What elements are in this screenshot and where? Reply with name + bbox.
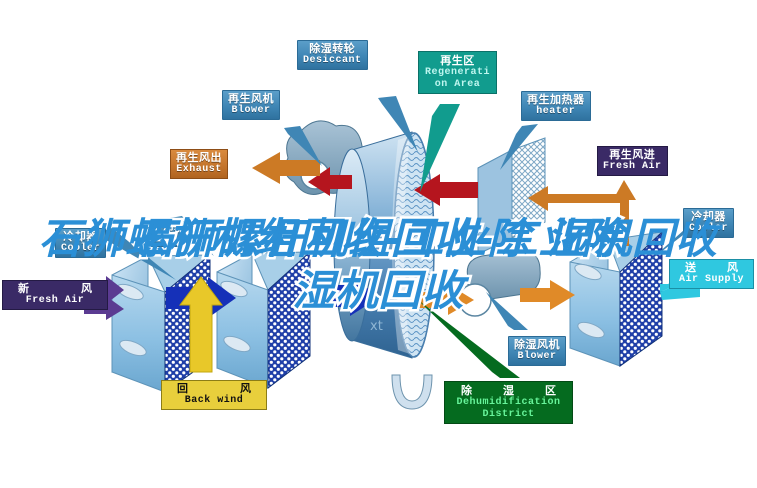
small-watermark: xt (370, 319, 383, 334)
label-regeneration-heater: 再生加热器 heater (521, 91, 591, 121)
dehumidifier-diagram: xt (0, 0, 757, 488)
label-back-wind: 回 风 Back wind (161, 380, 267, 410)
label-regeneration-heater-en: heater (527, 106, 585, 117)
label-regeneration-heater-cn: 再生加热器 (527, 94, 585, 106)
watermark-title-line1: 石狮螺杆机组回收-工业除 (0, 213, 757, 265)
label-back-wind-cn: 回 风 (167, 383, 261, 395)
watermark-title: 石狮螺杆机组回收-工业除 湿机回收 (0, 213, 757, 317)
label-dehumidification-blower: 除湿风机 Blower (508, 336, 566, 366)
label-dehumidification-blower-cn: 除湿风机 (514, 339, 560, 351)
label-back-wind-en: Back wind (167, 395, 261, 406)
label-regeneration-blower-en: Blower (228, 105, 274, 116)
label-regeneration-area: 再生区 Regenerati on Area (418, 51, 497, 94)
label-regeneration-blower: 再生风机 Blower (222, 90, 280, 120)
wheel-base (392, 375, 432, 409)
label-exhaust-en: Exhaust (176, 164, 222, 175)
label-exhaust-cn: 再生风出 (176, 152, 222, 164)
label-dehumidification-area-en: Dehumidification (451, 397, 566, 408)
label-regeneration-area-cn: 再生区 (425, 55, 490, 67)
label-desiccant-wheel: 除湿转轮 Desiccant (297, 40, 368, 70)
label-desiccant-wheel-cn: 除湿转轮 (303, 43, 362, 55)
label-regeneration-fresh-air-en: Fresh Air (603, 161, 662, 172)
label-regeneration-area-en: Regenerati (425, 67, 490, 78)
label-regeneration-fresh-air-cn: 再生风进 (603, 149, 662, 161)
label-regeneration-fresh-air: 再生风进 Fresh Air (597, 146, 668, 176)
label-regeneration-blower-cn: 再生风机 (228, 93, 274, 105)
label-dehumidification-area-cn: 除 湿 区 (451, 385, 566, 397)
label-desiccant-wheel-en: Desiccant (303, 55, 362, 66)
label-dehumidification-area: 除 湿 区 Dehumidification District (444, 381, 573, 424)
label-regeneration-area-en2: on Area (425, 79, 490, 90)
label-exhaust: 再生风出 Exhaust (170, 149, 228, 179)
label-dehumidification-area-en2: District (451, 409, 566, 420)
watermark-title-line2: 湿机回收 (0, 265, 757, 317)
label-dehumidification-blower-en: Blower (514, 351, 560, 362)
